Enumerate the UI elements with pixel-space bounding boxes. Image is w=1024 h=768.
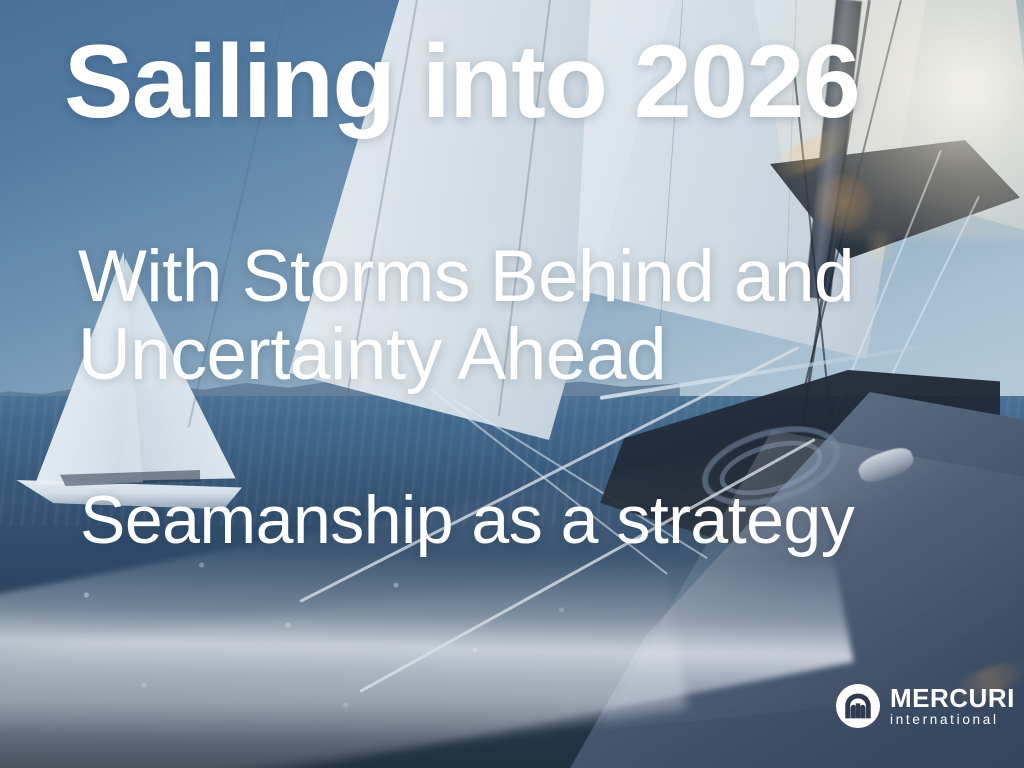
mercuri-m-circle-icon xyxy=(836,684,880,728)
text-overlay: Sailing into 2026 With Storms Behind and… xyxy=(0,0,1024,768)
logo-company-subtitle: international xyxy=(890,713,1015,727)
slide-headline: Sailing into 2026 xyxy=(64,28,859,137)
subheadline-line-2: Uncertainty Ahead xyxy=(78,316,854,394)
logo-company-name: MERCURI xyxy=(890,685,1015,711)
slide-tagline: Seamanship as a strategy xyxy=(80,485,854,556)
subheadline-line-1: With Storms Behind and xyxy=(78,238,854,316)
logo-wordmark: MERCURI international xyxy=(890,685,1015,727)
presentation-slide: Sailing into 2026 With Storms Behind and… xyxy=(0,0,1024,768)
mercuri-international-logo: MERCURI international xyxy=(836,684,1015,728)
slide-subheadline: With Storms Behind and Uncertainty Ahead xyxy=(78,238,854,394)
